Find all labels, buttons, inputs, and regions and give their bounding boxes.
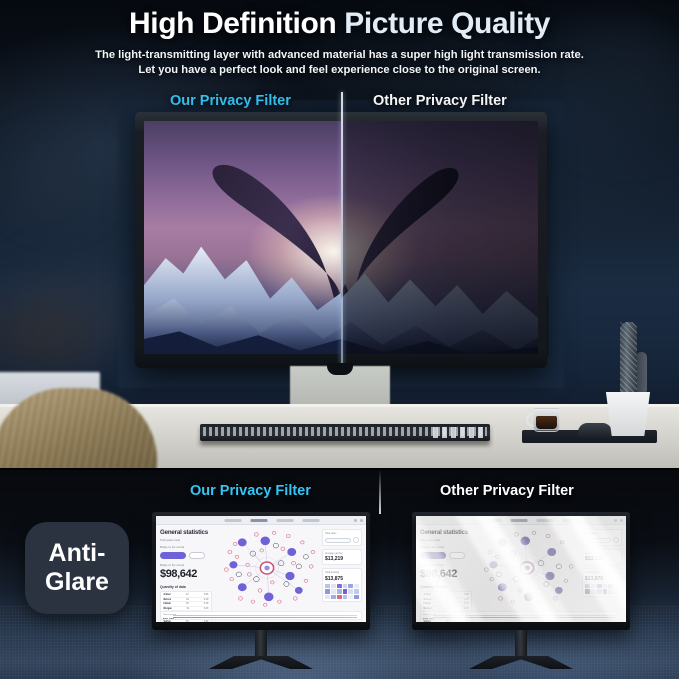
dashboard-kpi-value: $98,642 [160, 568, 212, 580]
bottom-split-line [379, 470, 381, 514]
dashboard-tabs [484, 519, 579, 522]
dashboard-kpi-value: $98,642 [420, 568, 472, 580]
page-title-part2: Picture Quality [344, 7, 550, 40]
dashboard-secondary-button[interactable] [449, 552, 465, 559]
footer-series-line [173, 615, 357, 616]
side-card: Total booking $13,875 [582, 568, 622, 596]
table-cell-name: Morgan [164, 608, 172, 610]
dashboard-kpi-label: Bridge on the normal [160, 564, 212, 567]
office-chair [0, 388, 157, 470]
dashboard-right-panel: Total value Average earning $13,219 Tota… [322, 529, 362, 610]
dashboard: General statistics Total system load Bri… [156, 516, 366, 622]
dashboard-primary-button[interactable] [420, 552, 446, 559]
table-cell-name: Amber [164, 594, 171, 596]
side-card-button[interactable] [585, 538, 611, 543]
side-card-controls [585, 537, 619, 543]
table-cell-name: Nelson [424, 599, 432, 601]
side-card-label: Total booking [325, 571, 359, 574]
dashboard-left-panel: General statistics Total system load Bri… [160, 529, 212, 610]
bottom-label-other-filter: Other Privacy Filter [440, 483, 574, 499]
dashboard-tab-active[interactable] [510, 519, 527, 522]
table-cell-val: 2.4K [204, 599, 209, 601]
dashboard-kpi-label: Bridge on the normal [420, 564, 472, 567]
table-cell-val: 3.1K [464, 603, 469, 605]
window-controls[interactable] [614, 519, 623, 522]
table-cell-qty: 24 [446, 599, 449, 601]
side-card-value: $13,219 [585, 556, 619, 562]
side-card-label: Total value [325, 532, 359, 535]
side-card-label: Total value [585, 532, 619, 535]
table-cell-val: 2.0K [464, 608, 469, 610]
side-card-label: Average earning [325, 552, 359, 555]
bottom-label-our-filter: Our Privacy Filter [190, 483, 311, 499]
dashboard-title: General statistics [420, 529, 472, 536]
dashboard-subtitle-2: Bridge on the normal [420, 546, 472, 550]
bottom-screen-glare: General statistics Total system load Bri… [416, 516, 626, 622]
table-cell-qty: 31 [187, 608, 190, 610]
page-subtitle-line1: The light-transmitting layer with advanc… [0, 48, 679, 63]
side-card: Average earning $13,219 [322, 549, 362, 565]
monitor-webcam [327, 363, 353, 375]
dashboard-tab-active[interactable] [250, 519, 267, 522]
side-card-icon[interactable] [613, 537, 619, 543]
footer-series-line [173, 617, 357, 618]
table-cell-name: Amber [424, 594, 431, 596]
side-card-value: $13,875 [585, 576, 619, 582]
table-cell-qty: 18 [186, 603, 189, 605]
table-cell-val: 2.9K [464, 621, 469, 622]
dashboard-tab[interactable] [484, 519, 501, 522]
table-cell-name: Sutton [164, 621, 171, 622]
table-cell-qty: 18 [446, 603, 449, 605]
table-cell-val: 2.4K [464, 599, 469, 601]
background-blur-blob [25, 150, 85, 210]
table-row: Sutton 15 2.9K [423, 620, 470, 622]
table-cell-qty: 12 [186, 594, 189, 596]
top-desk-scene: High Definition Picture Quality The ligh… [0, 0, 679, 470]
side-card-label: Average earning [585, 552, 619, 555]
bottom-monitor-other-filter: General statistics Total system load Bri… [412, 512, 630, 630]
footer-series-line [433, 619, 617, 620]
bottom-screen-clean: General statistics Total system load Bri… [156, 516, 366, 622]
dashboard-footer-chart: Total revenue $15,420 [420, 611, 622, 620]
table-cell-name: Morgan [424, 608, 432, 610]
keyboard-numpad [433, 427, 487, 438]
plant-pot [604, 392, 652, 436]
desk-monitor [135, 112, 547, 368]
table-cell-val: 3.1K [204, 603, 209, 605]
page-title-part1: High Definition [129, 7, 344, 40]
dashboard-tab[interactable] [562, 519, 579, 522]
side-card-label: Total booking [585, 571, 619, 574]
network-graph [474, 528, 580, 608]
bottom-antiglare-scene: Our Privacy Filter Other Privacy Filter … [0, 470, 679, 679]
side-card: Total booking $13,875 [322, 568, 362, 602]
table-cell-qty: 31 [447, 608, 450, 610]
bottom-monitor-our-filter: General statistics Total system load Bri… [152, 512, 370, 630]
side-card: Average earning $13,219 [582, 549, 622, 565]
side-card-value: $13,219 [325, 556, 359, 562]
monitor-stand-neck [255, 630, 267, 658]
page-subtitle-line2: Let you have a perfect look and feel exp… [0, 63, 679, 78]
table-cell-val: 1.8K [204, 594, 209, 596]
table-cell-name: Sutton [424, 621, 431, 622]
side-card-button[interactable] [325, 538, 351, 543]
dashboard-table-title: Quantity of data [160, 585, 212, 589]
heatmap-grid [585, 584, 619, 594]
dashboard-tab[interactable] [536, 519, 553, 522]
side-card-value: $13,875 [325, 576, 359, 582]
table-cell-val: 2.9K [204, 621, 209, 622]
window-controls[interactable] [354, 519, 363, 522]
dashboard-tab[interactable] [224, 519, 241, 522]
monitor-stand-neck [515, 630, 527, 658]
mouse [578, 423, 612, 439]
dashboard-tabs [224, 519, 319, 522]
page-subtitle: The light-transmitting layer with advanc… [0, 48, 679, 77]
cactus-arm [636, 352, 647, 392]
side-card: Total value [322, 529, 362, 546]
dashboard-subtitle-1: Total system load [420, 539, 472, 543]
coffee-cup [533, 408, 560, 432]
other-filter-dark-overlay [341, 121, 538, 354]
dashboard-left-panel: General statistics Total system load Bri… [420, 529, 472, 610]
table-cell-name: Nelson [164, 599, 172, 601]
side-card: Total value [582, 529, 622, 546]
side-card-icon[interactable] [353, 537, 359, 543]
anti-glare-badge-line2: Glare [45, 568, 109, 597]
dashboard-tab[interactable] [276, 519, 293, 522]
table-cell-qty: 15 [186, 621, 189, 622]
dashboard-button-row [160, 552, 212, 559]
dashboard-button-row [420, 552, 472, 559]
table-cell-qty: 24 [186, 599, 189, 601]
promo-image-root: High Definition Picture Quality The ligh… [0, 0, 679, 679]
dashboard-subtitle-2: Bridge on the normal [160, 546, 212, 550]
anti-glare-badge: Anti- Glare [25, 522, 129, 614]
table-cell-val: 2.0K [204, 608, 209, 610]
dashboard-washed: General statistics Total system load Bri… [416, 516, 626, 622]
network-graph [214, 528, 320, 608]
dashboard-subtitle-1: Total system load [160, 539, 212, 543]
dashboard-right-panel: Total value Average earning $13,219 Tota… [582, 529, 622, 610]
table-cell-name: Fabian [424, 603, 431, 605]
keyboard [200, 424, 490, 441]
dashboard-primary-button[interactable] [160, 552, 186, 559]
footer-series-line [433, 615, 617, 616]
table-cell-qty: 15 [446, 621, 449, 622]
table-cell-qty: 12 [446, 594, 449, 596]
heatmap-grid [325, 584, 359, 600]
table-row: Sutton 15 2.9K [163, 620, 210, 622]
footer-series-line [433, 617, 617, 618]
table-cell-name: Fabian [164, 603, 171, 605]
top-label-our-filter: Our Privacy Filter [170, 93, 291, 109]
top-label-other-filter: Other Privacy Filter [373, 93, 507, 109]
dashboard-tab[interactable] [302, 519, 319, 522]
cactus-plant [620, 322, 637, 396]
table-cell-val: 1.8K [464, 594, 469, 596]
side-card-controls [325, 537, 359, 543]
dashboard-secondary-button[interactable] [189, 552, 205, 559]
dashboard-footer-chart: Total revenue $15,420 [160, 611, 362, 620]
page-title: High Definition Picture Quality [0, 7, 679, 41]
dashboard-toolbar [416, 516, 626, 525]
dashboard-title: General statistics [160, 529, 212, 536]
footer-series-line [173, 619, 357, 620]
comparison-split-line [341, 92, 343, 392]
dashboard-table-title: Quantity of data [420, 585, 472, 589]
anti-glare-badge-line1: Anti- [49, 539, 106, 568]
dashboard-toolbar [156, 516, 366, 525]
